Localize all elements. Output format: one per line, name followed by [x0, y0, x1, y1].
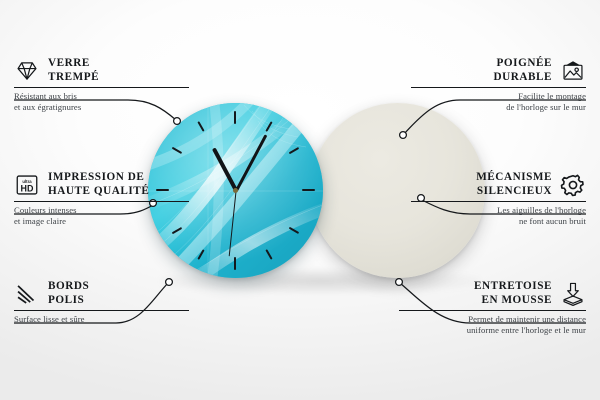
callout-divider [399, 310, 586, 311]
callout-divider [411, 201, 586, 202]
diamond-icon [14, 58, 40, 84]
foam-spacer-icon [560, 281, 586, 307]
callout-header: BORDS POLIS [14, 280, 189, 307]
clock-hands-hub [233, 188, 238, 193]
callout-divider [14, 310, 189, 311]
callout-desc-line1: Résistant aux bris [14, 91, 189, 102]
callout-title: POIGNÉE DURABLE [493, 57, 552, 84]
callout-impression-haute-qualite[interactable]: ultra HD IMPRESSION DE HAUTE QUALITÉ Cou… [14, 171, 189, 226]
callout-title: BORDS POLIS [48, 280, 89, 307]
callout-title: IMPRESSION DE HAUTE QUALITÉ [48, 171, 149, 198]
polished-edges-icon [14, 281, 40, 307]
callout-header: POIGNÉE DURABLE [411, 57, 586, 84]
callout-title: MÉCANISME SILENCIEUX [476, 171, 552, 198]
callout-header: VERRE TREMPÉ [14, 57, 189, 84]
callout-mecanisme-silencieux[interactable]: MÉCANISME SILENCIEUX Les aiguilles de l'… [411, 171, 586, 226]
callout-desc-line2: et aux égratignures [14, 102, 189, 113]
callout-entretoise-en-mousse[interactable]: ENTRETOISE EN MOUSSE Permet de maintenir… [399, 280, 586, 335]
callout-divider [14, 201, 189, 202]
callout-verre-trempe[interactable]: VERRE TREMPÉ Résistant aux bris et aux é… [14, 57, 189, 112]
clock-tick-12 [234, 111, 236, 124]
callout-divider [14, 87, 189, 88]
callout-desc-line2: ne font aucun bruit [411, 216, 586, 227]
callout-desc-line2: de l'horloge sur le mur [411, 102, 586, 113]
svg-text:HD: HD [21, 183, 34, 193]
callout-desc-line2: uniforme entre l'horloge et le mur [399, 325, 586, 336]
picture-frame-hanger-icon [560, 58, 586, 84]
gear-icon [560, 172, 586, 198]
infographic-stage: VERRE TREMPÉ Résistant aux bris et aux é… [0, 0, 600, 400]
clock-tick-6 [234, 257, 236, 270]
callout-title: VERRE TREMPÉ [48, 57, 99, 84]
callout-title: ENTRETOISE EN MOUSSE [474, 280, 552, 307]
callout-desc-line1: Permet de maintenir une distance [399, 314, 586, 325]
callout-desc-line1: Les aiguilles de l'horloge [411, 205, 586, 216]
callout-bords-polis[interactable]: BORDS POLIS Surface lisse et sûre [14, 280, 189, 325]
callout-desc-line2: et image claire [14, 216, 189, 227]
callout-header: ENTRETOISE EN MOUSSE [399, 280, 586, 307]
callout-desc-line1: Couleurs intenses [14, 205, 189, 216]
callout-header: MÉCANISME SILENCIEUX [411, 171, 586, 198]
callout-desc-line1: Facilite le montage [411, 91, 586, 102]
callout-divider [411, 87, 586, 88]
callout-desc-line1: Surface lisse et sûre [14, 314, 189, 325]
callout-header: ultra HD IMPRESSION DE HAUTE QUALITÉ [14, 171, 189, 198]
clock-tick-3 [302, 189, 315, 191]
callout-poignee-durable[interactable]: POIGNÉE DURABLE Facilite le montage de l… [411, 57, 586, 112]
ultra-hd-icon: ultra HD [14, 172, 40, 198]
